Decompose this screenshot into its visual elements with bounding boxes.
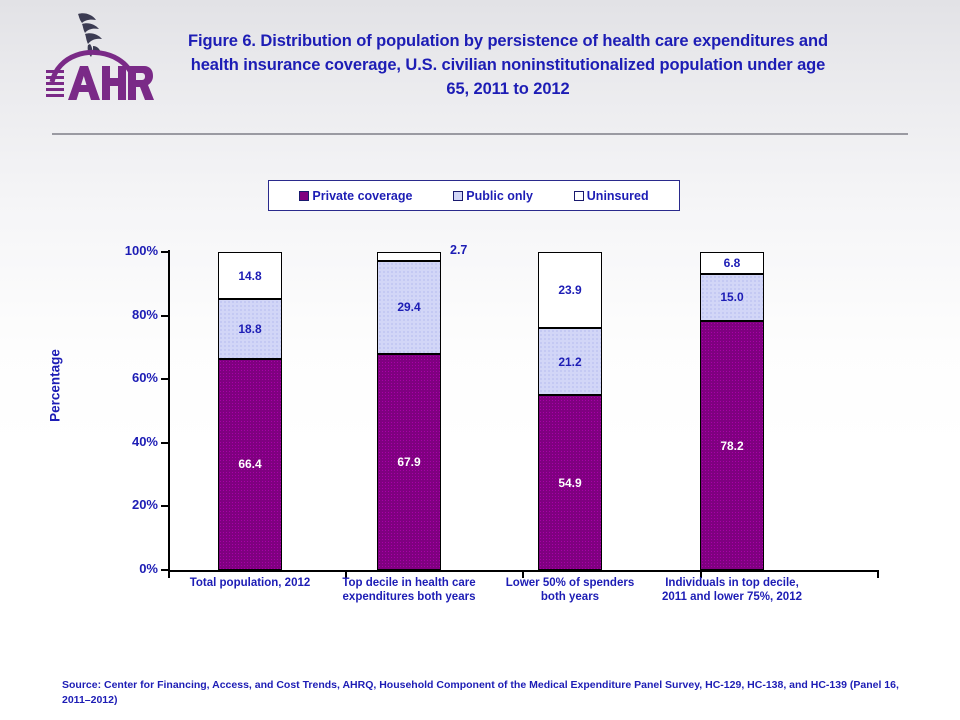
x-category-label: Lower 50% of spendersboth years [482,576,658,605]
bar-value-label: 67.9 [397,455,420,469]
x-category-line: Top decile in health care [321,576,497,590]
bar-value-label: 15.0 [720,290,743,304]
bar-segment[interactable]: 23.9 [538,252,602,328]
y-tick-label: 20% [98,497,158,512]
bar-segment[interactable]: 18.8 [218,299,282,359]
y-tick-label: 0% [98,561,158,576]
bar-value-label-outside: 2.7 [450,243,467,257]
bar-value-label: 18.8 [238,322,261,336]
bar-segment[interactable] [377,252,441,261]
bar-column[interactable]: 78.215.06.8 [700,252,764,570]
x-category-line: both years [482,590,658,604]
x-category-label: Individuals in top decile,2011 and lower… [644,576,820,605]
bar-column[interactable]: 66.418.814.8 [218,252,282,570]
bar-column[interactable]: 54.921.223.9 [538,252,602,570]
x-category-label: Total population, 2012 [162,576,338,590]
y-tick-label: 40% [98,434,158,449]
bar-value-label: 6.8 [724,256,741,270]
y-axis-line [168,250,170,572]
bar-value-label: 21.2 [558,355,581,369]
y-tick-line [161,378,169,380]
bar-segment[interactable]: 66.4 [218,359,282,570]
y-tick-label: 80% [98,307,158,322]
x-category-line: Individuals in top decile, [644,576,820,590]
x-category-line: 2011 and lower 75%, 2012 [644,590,820,604]
y-tick-line [161,505,169,507]
bar-value-label: 14.8 [238,269,261,283]
bar-segment[interactable]: 14.8 [218,252,282,299]
x-tick-line [877,570,879,578]
bar-value-label: 23.9 [558,283,581,297]
y-tick-line [161,442,169,444]
x-category-label: Top decile in health careexpenditures bo… [321,576,497,605]
y-tick-line [161,315,169,317]
y-tick-label: 60% [98,370,158,385]
bar-segment[interactable]: 78.2 [700,321,764,570]
x-category-line: expenditures both years [321,590,497,604]
bar-value-label: 66.4 [238,457,261,471]
bar-segment[interactable]: 67.9 [377,354,441,570]
bar-column[interactable]: 67.929.4 [377,252,441,570]
y-tick-line [161,251,169,253]
bar-value-label: 78.2 [720,439,743,453]
bar-segment[interactable]: 29.4 [377,261,441,354]
bar-value-label: 54.9 [558,476,581,490]
y-axis-title: Percentage [48,326,63,446]
source-note: Source: Center for Financing, Access, an… [62,678,902,708]
x-category-line: Total population, 2012 [162,576,338,590]
stacked-bar-chart: Percentage 0%20%40%60%80%100% 66.418.814… [0,0,960,720]
bar-segment[interactable]: 6.8 [700,252,764,274]
x-category-line: Lower 50% of spenders [482,576,658,590]
bar-segment[interactable]: 15.0 [700,274,764,322]
bar-segment[interactable]: 21.2 [538,328,602,395]
y-tick-label: 100% [98,243,158,258]
bar-segment[interactable]: 54.9 [538,395,602,570]
bar-value-label: 29.4 [397,300,420,314]
